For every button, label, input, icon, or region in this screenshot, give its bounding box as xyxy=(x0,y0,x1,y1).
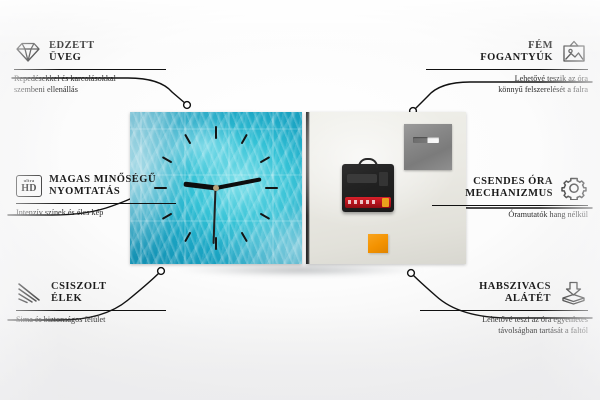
callout-description: Repedésekkel és karcolásokkal szembeni e… xyxy=(14,73,166,95)
product-infographic: EDZETT ÜVEG Repedésekkel és karcolásokka… xyxy=(0,0,600,400)
metal-hanger xyxy=(404,124,452,170)
mechanism-ridge xyxy=(347,174,377,183)
hour-marker-12 xyxy=(215,126,217,139)
callout-magas-minosegu-nyomtatas: ultra HD MAGAS MINŐSÉGŰ NYOMTATÁS Intenz… xyxy=(16,174,176,218)
hour-marker-7 xyxy=(184,232,191,243)
hand-center-cap xyxy=(213,185,219,191)
callout-header: HABSZIVACS ALÁTÉT xyxy=(420,281,588,306)
second-hand xyxy=(213,188,216,244)
hour-marker-11 xyxy=(184,134,191,145)
hour-marker-5 xyxy=(241,232,248,243)
callout-title: FÉM FOGANTYÚK xyxy=(480,40,553,65)
hanger-slot xyxy=(413,137,439,143)
hour-marker-4 xyxy=(260,213,271,220)
callout-header: CSISZOLT ÉLEK xyxy=(16,281,166,306)
callout-title: CSENDES ÓRA MECHANIZMUS xyxy=(465,176,553,201)
callout-title: EDZETT ÜVEG xyxy=(49,40,95,65)
ultra-hd-icon: ultra HD xyxy=(16,175,42,197)
callout-fem-fogantyuk: FÉM FOGANTYÚK Lehetővé teszik az óra kön… xyxy=(426,40,588,95)
callout-edzett-uveg: EDZETT ÜVEG Repedésekkel és karcolásokka… xyxy=(14,40,166,95)
polished-edges-icon xyxy=(16,281,44,305)
ultra-hd-icon-large-text: HD xyxy=(21,184,37,194)
callout-description: Óramutatók hang nélkül xyxy=(432,209,588,220)
callout-header: FÉM FOGANTYÚK xyxy=(426,40,588,65)
callout-divider xyxy=(14,69,166,70)
product-shadow xyxy=(134,262,466,278)
battery-label xyxy=(348,200,378,204)
foam-pad xyxy=(368,234,388,253)
callout-description: Lehetővé teszi az óra egyenletes távolsá… xyxy=(420,314,588,336)
foam-pad-icon xyxy=(558,281,588,305)
callout-csiszolt-elek: CSISZOLT ÉLEK Sima és biztonságos felüle… xyxy=(16,281,166,325)
marker-edzett-uveg xyxy=(184,102,191,109)
minute-hand xyxy=(216,177,262,190)
battery xyxy=(345,197,391,208)
diamond-icon xyxy=(14,40,42,64)
callout-description: Sima és biztonságos felület xyxy=(16,314,166,325)
callout-description: Intenzív színek és éles kép xyxy=(16,207,176,218)
callout-divider xyxy=(420,310,588,311)
mechanism-ridge-2 xyxy=(379,172,388,186)
callout-header: ultra HD MAGAS MINŐSÉGŰ NYOMTATÁS xyxy=(16,174,176,199)
callout-description: Lehetővé teszik az óra könnyű felszerelé… xyxy=(426,73,588,95)
callout-divider xyxy=(432,205,588,206)
mechanism-hook xyxy=(358,158,378,168)
hour-marker-3 xyxy=(265,187,278,189)
hour-marker-1 xyxy=(241,134,248,145)
hour-marker-6 xyxy=(215,237,217,250)
callout-title: MAGAS MINŐSÉGŰ NYOMTATÁS xyxy=(49,174,156,199)
hour-hand xyxy=(183,181,216,190)
callout-header: CSENDES ÓRA MECHANIZMUS xyxy=(432,176,588,201)
callout-divider xyxy=(426,69,588,70)
callout-divider xyxy=(16,203,176,204)
callout-divider xyxy=(16,310,166,311)
product-images xyxy=(130,112,470,270)
callout-habszivacs-alatet: HABSZIVACS ALÁTÉT Lehetővé teszi az óra … xyxy=(420,281,588,336)
callout-title: HABSZIVACS ALÁTÉT xyxy=(479,281,551,306)
quiet-clock-mechanism xyxy=(342,164,394,212)
gear-icon xyxy=(560,176,588,200)
wall-mount-icon xyxy=(560,40,588,64)
hour-marker-10 xyxy=(162,156,173,163)
battery-terminal xyxy=(382,198,389,207)
callout-csendes-ora-mechanizmus: CSENDES ÓRA MECHANIZMUS Óramutatók hang … xyxy=(432,176,588,220)
hour-marker-2 xyxy=(260,156,271,163)
callout-title: CSISZOLT ÉLEK xyxy=(51,281,107,306)
callout-header: EDZETT ÜVEG xyxy=(14,40,166,65)
